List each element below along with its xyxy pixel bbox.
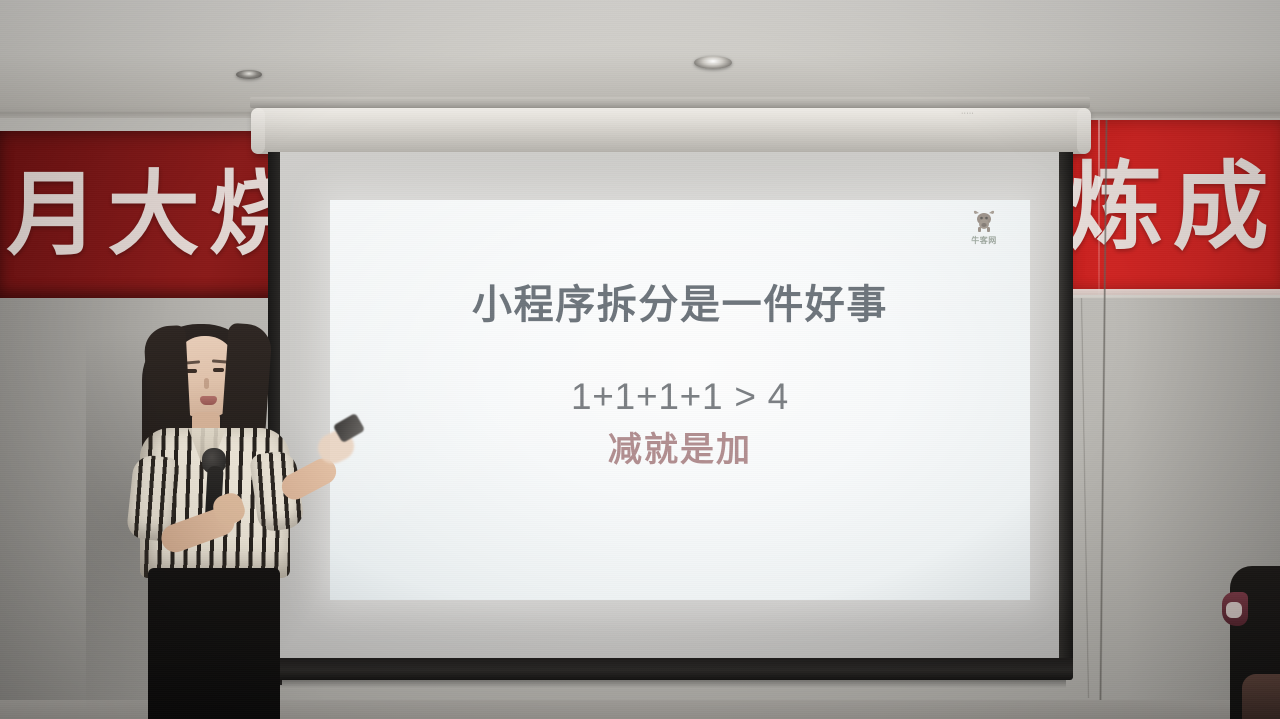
screen-border-right [1059,152,1073,676]
wall-banner-right: 炼成 [1063,120,1280,295]
screen-roller-cap-right [1077,108,1091,154]
audience-shoulder [1242,674,1280,719]
slide-logo: 牛客网 [962,208,1006,254]
wall-banner-left: 月大烧 [0,131,306,298]
slide-subtitle: 减就是加 [330,422,1030,471]
screen-roller-label: ····· [961,110,974,117]
projected-slide: 牛客网 小程序拆分是一件好事 1+1+1+1 > 4 减就是加 [330,200,1030,600]
presenter-mouth [200,396,217,405]
ceiling-spot-light-center-icon [694,56,732,69]
presentation-photo-scene: 月大烧 炼成 ····· [0,0,1280,719]
bull-mascot-icon [971,208,997,234]
ceiling-spot-light-left-icon [236,70,262,79]
presenter-eye-right [213,368,224,372]
audience-member-edge [1216,566,1280,719]
slide-title: 小程序拆分是一件好事 [330,272,1030,330]
screen-roller-cap-left [251,108,265,154]
screen-bottom-shadow [276,680,1066,688]
screen-mount-rail [250,97,1090,108]
wall-banner-left-text: 月大烧 [6,169,306,261]
audience-highlight [1226,602,1242,618]
screen-weighted-bar [268,658,1073,680]
slide-logo-text: 牛客网 [971,235,997,246]
presenter [96,316,326,719]
presenter-nose [204,378,209,389]
banner-bottom-strip [1063,289,1280,298]
banner-seam [1098,120,1100,295]
presenter-skirt [148,568,280,719]
slide-equation: 1+1+1+1 > 4 [330,376,1030,418]
